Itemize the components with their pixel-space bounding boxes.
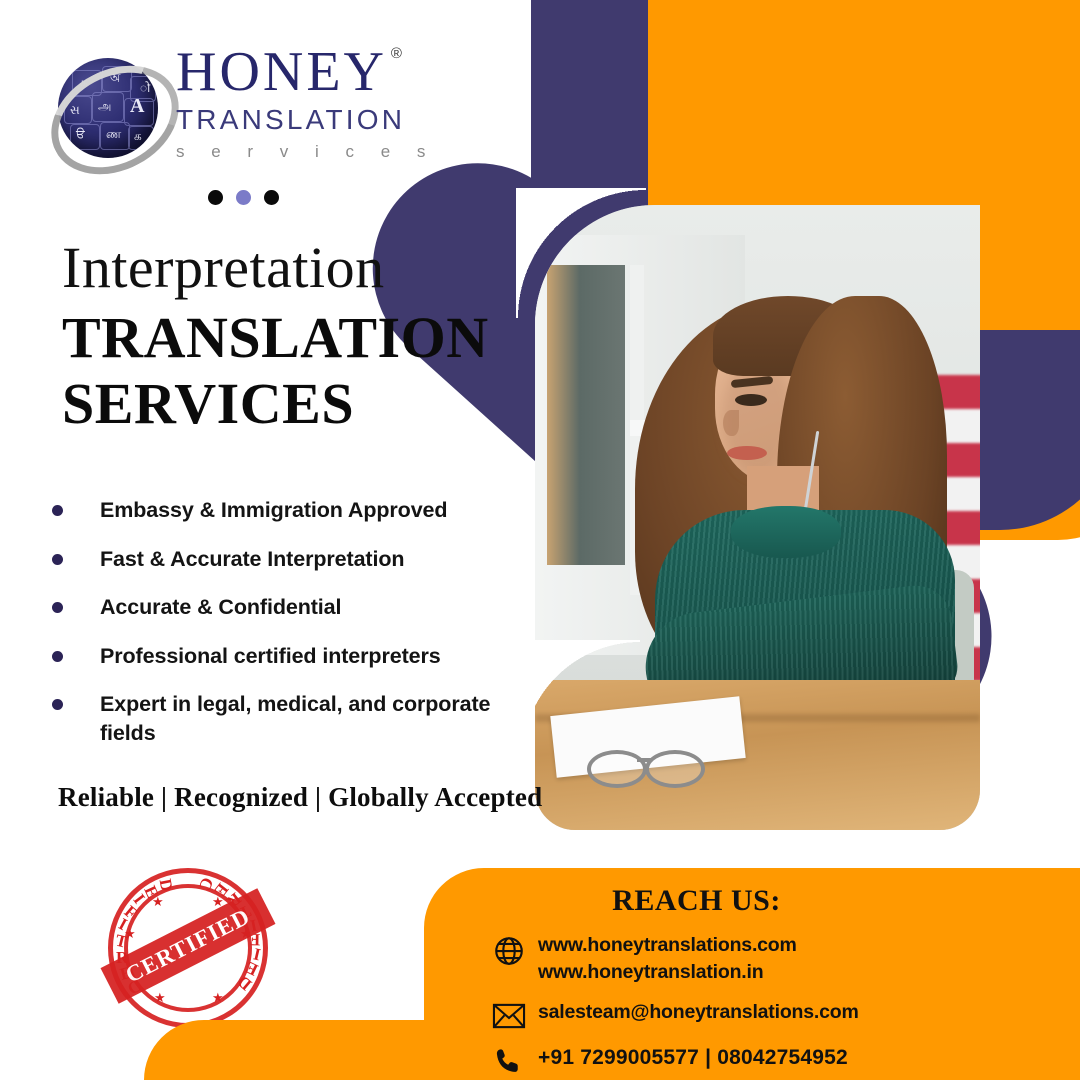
logo-honey-label: HONEY [176, 41, 387, 103]
headline-line-2: SERVICES [62, 371, 489, 437]
headline-line-1: TRANSLATION [62, 305, 489, 371]
logo-translation-text: TRANSLATION [176, 104, 456, 136]
person-figure [627, 260, 957, 730]
bullet-dot-icon [52, 554, 63, 565]
certified-stamp-icon: C E R T I F I E D C E R T I F I E D ★ ★ … [108, 868, 268, 1028]
list-item-label: Expert in legal, medical, and corporate … [100, 690, 522, 747]
turtleneck-collar [731, 506, 841, 558]
list-item: Expert in legal, medical, and corporate … [52, 690, 522, 747]
contact-details: www.honeytranslations.com www.honeytrans… [492, 932, 1052, 1080]
registered-mark-icon: ® [391, 46, 405, 61]
globe-logo-icon: க অ ो સ அ A ੳ ண க [52, 52, 164, 164]
list-item: Fast & Accurate Interpretation [52, 545, 522, 574]
list-item: Embassy & Immigration Approved [52, 496, 522, 525]
contact-row-website: www.honeytranslations.com www.honeytrans… [492, 932, 1052, 986]
bullet-dot-icon [52, 651, 63, 662]
list-item-label: Professional certified interpreters [100, 642, 441, 671]
list-item: Accurate & Confidential [52, 593, 522, 622]
email-address[interactable]: salesteam@honeytranslations.com [538, 999, 859, 1026]
nose [723, 410, 739, 436]
logo-wordmark: HONEY ® TRANSLATION s e r v i c e s [176, 44, 456, 162]
tagline: Reliable | Recognized | Globally Accepte… [58, 782, 542, 813]
dot-3 [264, 190, 279, 205]
contact-row-phone: +91 7299005577 | 08042754952 [492, 1044, 1052, 1078]
list-item-label: Fast & Accurate Interpretation [100, 545, 404, 574]
brand-logo: க অ ो સ அ A ੳ ண க HONEY ® TRANSLATION s … [52, 44, 452, 179]
bullet-dot-icon [52, 699, 63, 710]
contact-row-email: salesteam@honeytranslations.com [492, 999, 1052, 1031]
envelope-icon [492, 999, 538, 1031]
logo-services-text: s e r v i c e s [176, 142, 456, 162]
eye [735, 394, 767, 406]
lips [727, 446, 767, 460]
globe-orbit-ring [32, 44, 197, 195]
list-item-label: Embassy & Immigration Approved [100, 496, 447, 525]
globe-icon [492, 932, 538, 968]
headline-script: Interpretation [62, 234, 385, 301]
bullet-dot-icon [52, 602, 63, 613]
website-2[interactable]: www.honeytranslation.in [538, 959, 797, 986]
list-item: Professional certified interpreters [52, 642, 522, 671]
bullet-dot-icon [52, 505, 63, 516]
headline-main: TRANSLATION SERVICES [62, 305, 489, 437]
dot-2 [236, 190, 251, 205]
photo-corner-notch [516, 188, 646, 318]
logo-honey-text: HONEY ® [176, 44, 387, 100]
website-1[interactable]: www.honeytranslations.com [538, 932, 797, 959]
contact-heading: REACH US: [424, 884, 969, 918]
phone-icon [492, 1044, 538, 1078]
features-list: Embassy & Immigration Approved Fast & Ac… [52, 496, 522, 768]
decorative-dots [208, 190, 279, 205]
phone-numbers[interactable]: +91 7299005577 | 08042754952 [538, 1044, 848, 1073]
photo-lower-notch [520, 640, 640, 760]
list-item-label: Accurate & Confidential [100, 593, 341, 622]
dot-1 [208, 190, 223, 205]
poster-canvas: க অ ो સ அ A ੳ ண க HONEY ® TRANSLATION s … [0, 0, 1080, 1080]
